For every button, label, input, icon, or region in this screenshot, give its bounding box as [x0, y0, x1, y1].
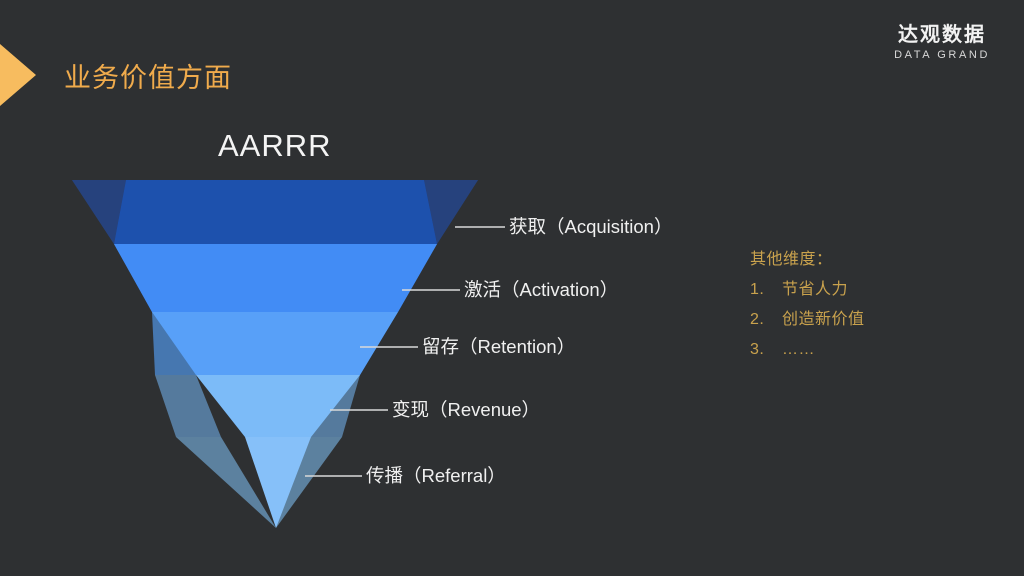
funnel-seg-1-front-fix — [114, 180, 437, 244]
slide: 业务价值方面 达观数据 DATA GRAND AARRR — [0, 0, 1024, 576]
funnel-label-referral: 传播（Referral） — [366, 467, 506, 486]
funnel-seg-2-front — [114, 244, 437, 312]
other-dimensions-title: 其他维度： — [750, 252, 980, 268]
list-item-label: 节省人力 — [782, 282, 980, 298]
list-item-number: 1. — [750, 282, 782, 298]
funnel-label-acquisition: 获取（Acquisition） — [509, 218, 672, 237]
funnel-label-activation: 激活（Activation） — [464, 281, 618, 300]
other-dimensions-panel: 其他维度： 1. 节省人力 2. 创造新价值 3. …… — [750, 252, 980, 372]
list-item-label: 创造新价值 — [782, 312, 980, 328]
list-item: 1. 节省人力 — [750, 282, 980, 298]
list-item: 3. …… — [750, 342, 980, 358]
list-item-number: 3. — [750, 342, 782, 358]
funnel-label-revenue: 变现（Revenue） — [392, 401, 540, 420]
list-item-number: 2. — [750, 312, 782, 328]
funnel-label-retention: 留存（Retention） — [422, 338, 575, 357]
list-item: 2. 创造新价值 — [750, 312, 980, 328]
list-item-label: …… — [782, 342, 980, 358]
